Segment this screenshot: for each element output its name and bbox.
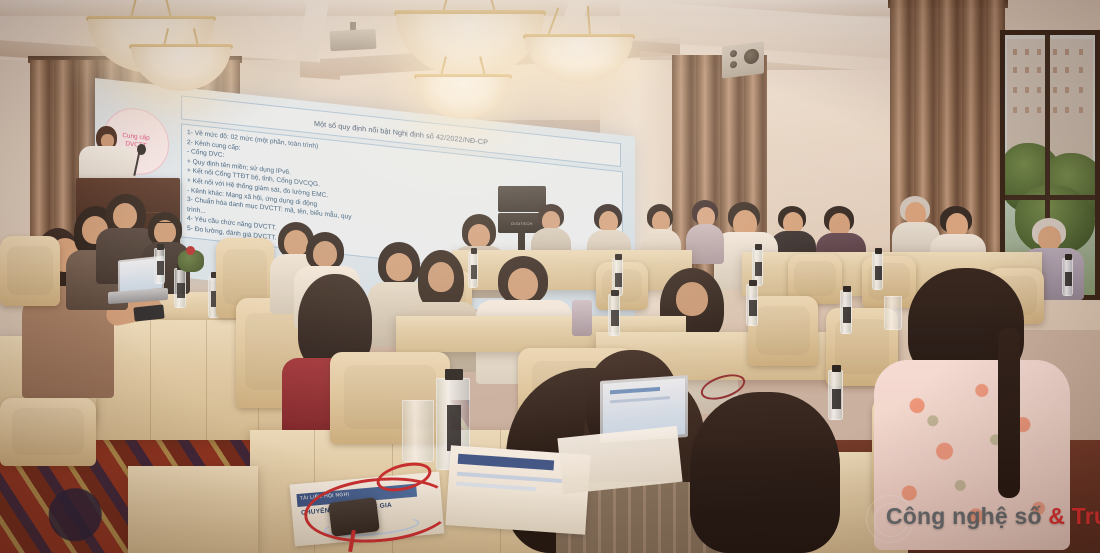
building-outside	[1007, 39, 1093, 159]
water-bottle	[828, 370, 843, 420]
drinking-glass	[402, 400, 434, 462]
pa-speaker-top	[498, 186, 546, 212]
water-bottle	[746, 284, 758, 326]
microphone-icon	[137, 144, 146, 155]
flower	[186, 246, 195, 255]
projector-lens-icon	[365, 33, 374, 42]
chair	[748, 296, 818, 366]
water-bottle	[840, 290, 852, 334]
water-bottle	[1062, 258, 1073, 296]
thermos-cup	[572, 300, 592, 336]
watermark-text: Công nghệ số & Truyền thông	[886, 503, 1100, 530]
pa-brand-label: DIGITECH	[511, 221, 533, 226]
water-bottle	[154, 248, 165, 284]
watermark: Công nghệ số & Truyền thông	[866, 497, 1096, 545]
table	[452, 250, 692, 290]
water-bottle	[174, 268, 186, 308]
eyeglasses-icon	[153, 222, 173, 227]
chair	[0, 236, 60, 306]
water-bottle	[608, 294, 620, 336]
table	[128, 466, 258, 553]
chair	[0, 398, 96, 466]
drinking-glass	[884, 296, 902, 330]
water-bottle	[872, 252, 883, 290]
wall-speaker	[722, 41, 764, 78]
watermark-text-part1: Công nghệ số	[886, 503, 1048, 529]
watermark-text-part2: & Truyền thông	[1048, 503, 1100, 529]
conference-room-photo: Cung cấp DVCTT Một số quy định nổi bật N…	[0, 0, 1100, 553]
water-bottle	[468, 252, 478, 288]
ceiling-projector	[330, 29, 377, 51]
window-mullion	[1005, 195, 1095, 200]
